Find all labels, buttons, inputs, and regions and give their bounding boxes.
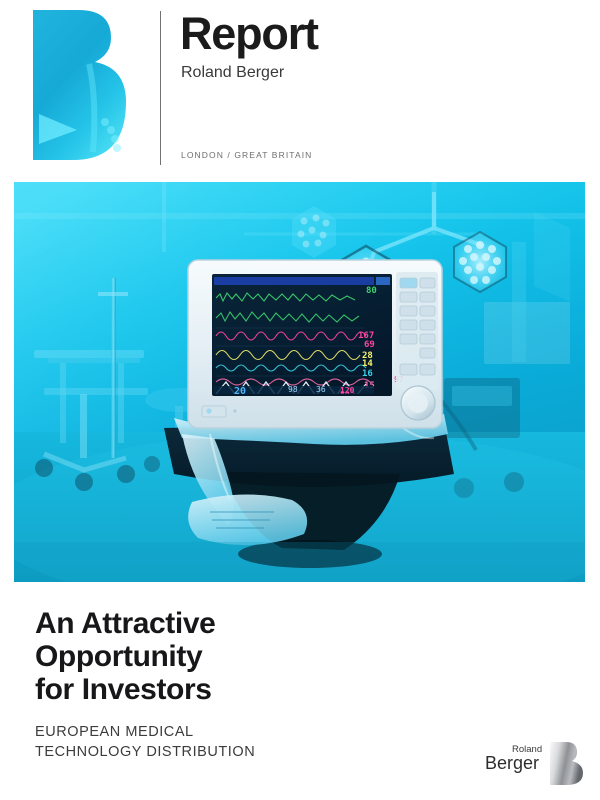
svg-text:16: 16	[362, 369, 373, 379]
report-cover-page: 80 167 69 28 14 16 15 20 98	[0, 0, 600, 800]
header-location: LONDON / GREAT BRITAIN	[181, 150, 312, 161]
svg-text:69: 69	[364, 340, 375, 350]
svg-text:80: 80	[366, 286, 377, 296]
cover-photo: 80 167 69 28 14 16 15 20 98	[14, 182, 585, 582]
cover-title-line-2: Opportunity	[35, 640, 215, 673]
logo-b-mark	[550, 742, 583, 785]
cover-title-line-3: for Investors	[35, 673, 215, 706]
svg-text:98: 98	[288, 385, 298, 394]
svg-text:14: 14	[362, 359, 373, 369]
operating-theatre-illustration: 80 167 69 28 14 16 15 20 98	[14, 182, 585, 582]
roland-berger-logo: Roland Berger	[484, 738, 584, 788]
roland-berger-b-mark-icon	[33, 10, 126, 160]
svg-text:36: 36	[316, 385, 326, 394]
cover-subtitle-line-1: EUROPEAN MEDICAL	[35, 722, 255, 742]
cover-title: An Attractive Opportunity for Investors	[35, 607, 215, 706]
cover-subtitle-line-2: TECHNOLOGY DISTRIBUTION	[35, 742, 255, 762]
cover-subtitle: EUROPEAN MEDICAL TECHNOLOGY DISTRIBUTION	[35, 722, 255, 762]
cover-title-line-1: An Attractive	[35, 607, 215, 640]
header-divider	[160, 11, 161, 165]
patient-monitor: 80 167 69 28 14 16 15 20 98	[188, 260, 442, 428]
header-company-name: Roland Berger	[181, 63, 284, 83]
logo-brand-bottom: Berger	[485, 753, 539, 773]
report-title: Report	[180, 8, 318, 60]
monitor-control-panel	[396, 272, 438, 420]
